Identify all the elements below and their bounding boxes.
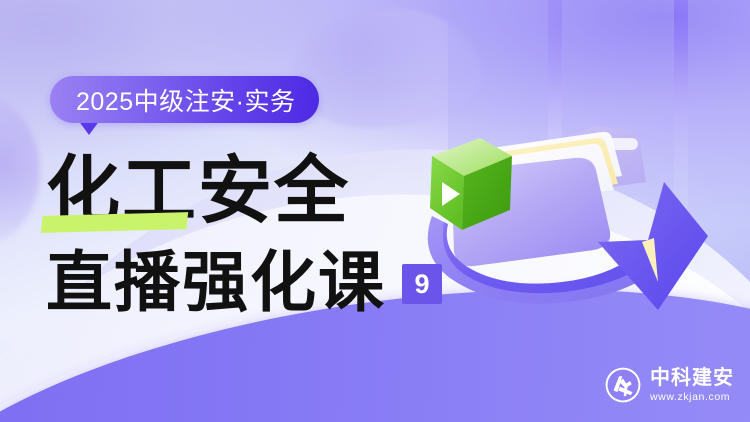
brand-logo: 中科建安 www.zkjan.com [604,366,734,404]
category-badge: 2025中级注安·实务 [50,76,319,123]
brand-logo-text: 中科建安 www.zkjan.com [650,368,734,403]
brand-website: www.zkjan.com [650,392,734,403]
zkjan-circle-mark-icon [604,366,642,404]
episode-number-badge: 9 [402,264,442,304]
poster-text-block: 2025中级注安·实务 化工安全 直播强化课 9 [0,0,460,422]
page-subtitle-text: 直播强化课 [46,248,386,320]
page-subtitle: 直播强化课 9 [46,248,442,320]
course-poster: 2025中级注安·实务 化工安全 直播强化课 9 中科建安 www.zkjan.… [0,0,750,422]
brand-name: 中科建安 [650,368,734,388]
